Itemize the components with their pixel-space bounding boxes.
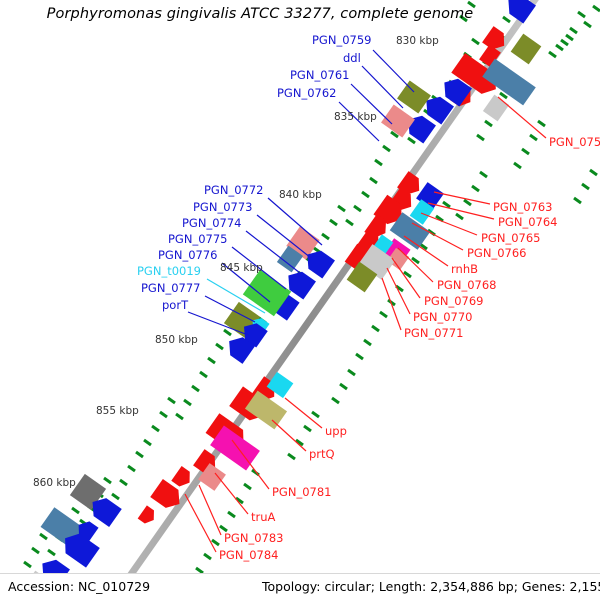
scale-dash	[152, 426, 159, 431]
scale-dash	[477, 135, 484, 140]
scale-dash	[593, 6, 600, 11]
gene-label-pgn_0763[interactable]: PGN_0763	[493, 202, 552, 213]
scale-dash	[582, 184, 589, 189]
scale-dash	[380, 312, 387, 317]
scale-dash	[456, 214, 463, 219]
leader-line-blue	[362, 66, 403, 108]
gene-label-ddl[interactable]: ddl	[343, 53, 361, 64]
scale-dash	[383, 146, 390, 151]
scale-dash	[176, 414, 183, 419]
scale-tick-label: 855 kbp	[96, 406, 139, 417]
scale-dash	[340, 384, 347, 389]
scale-dash	[244, 484, 251, 489]
gene-olive-b[interactable]	[397, 81, 431, 114]
scale-dash	[346, 220, 353, 225]
scale-dash	[372, 326, 379, 331]
scale-dash	[322, 234, 329, 239]
gene-label-pgn_0774[interactable]: PGN_0774	[182, 218, 241, 229]
scale-tick-label: 850 kbp	[155, 335, 198, 346]
scale-tick-label: 835 kbp	[334, 112, 377, 123]
scale-dash	[24, 562, 31, 567]
genome-summary-text: Topology: circular; Length: 2,354,886 bp…	[262, 579, 600, 594]
scale-dash	[184, 400, 191, 405]
leader-line-red	[272, 420, 306, 451]
scale-dash	[168, 398, 175, 403]
scale-dash	[332, 398, 339, 403]
scale-dash	[112, 494, 119, 499]
scale-dash	[556, 45, 563, 50]
scale-dash	[530, 135, 537, 140]
scale-dash	[356, 354, 363, 359]
gene-steel-long[interactable]	[482, 59, 536, 106]
gene-label-pgn_0768[interactable]: PGN_0768	[437, 280, 496, 291]
scale-dash	[304, 426, 311, 431]
scale-dash	[228, 512, 235, 517]
gene-label-pgn_t0019[interactable]: PGN_t0019	[137, 266, 201, 277]
scale-dash	[566, 35, 573, 40]
scale-tick-label: 845 kbp	[220, 263, 263, 274]
scale-dash	[362, 192, 369, 197]
scale-dash	[578, 12, 585, 17]
scale-dash	[464, 200, 471, 205]
gene-label-pgn_0771[interactable]: PGN_0771	[404, 328, 463, 339]
scale-dash	[375, 160, 382, 165]
scale-dash	[570, 28, 577, 33]
gene-label-pgn_0762[interactable]: PGN_0762	[277, 88, 336, 99]
scale-dash	[312, 412, 319, 417]
scale-dash	[472, 186, 479, 191]
gene-label-pgn_0784[interactable]: PGN_0784	[219, 550, 278, 561]
gene-label-pgn_0766[interactable]: PGN_0766	[467, 248, 526, 259]
scale-dash	[408, 138, 415, 143]
scale-dash	[40, 534, 47, 539]
scale-dash	[192, 386, 199, 391]
scale-dash	[120, 480, 127, 485]
gene-label-rnhb[interactable]: rnhB	[451, 264, 478, 275]
gene-label-port[interactable]: porT	[162, 300, 188, 311]
gene-label-pgn_0772[interactable]: PGN_0772	[204, 185, 263, 196]
gene-red-p[interactable]	[138, 505, 159, 526]
scale-dash	[348, 370, 355, 375]
gene-label-pgn_0773[interactable]: PGN_0773	[193, 202, 252, 213]
scale-dash	[208, 358, 215, 363]
scale-dash	[584, 22, 591, 27]
gene-label-pgn_0775[interactable]: PGN_0775	[168, 234, 227, 245]
genome-map-viewer: Porphyromonas gingivalis ATCC 33277, com…	[0, 0, 600, 600]
gene-label-pgn_0761[interactable]: PGN_0761	[290, 70, 349, 81]
scale-dash	[443, 202, 450, 207]
gene-label-pgn_0759[interactable]: PGN_0759	[312, 35, 371, 46]
gene-label-pgn_0757[interactable]: PGN_0757	[549, 137, 600, 148]
gene-label-prtq[interactable]: prtQ	[309, 449, 335, 460]
scale-dash	[128, 466, 135, 471]
gene-label-pgn_0769[interactable]: PGN_0769	[424, 296, 483, 307]
scale-dash	[574, 198, 581, 203]
scale-dash	[160, 412, 167, 417]
scale-dash	[338, 206, 345, 211]
scale-dash	[330, 220, 337, 225]
scale-dash	[212, 540, 219, 545]
scale-dash	[72, 508, 79, 513]
scale-tick-label: 830 kbp	[396, 36, 439, 47]
scale-dash	[204, 554, 211, 559]
gene-label-pgn_0764[interactable]: PGN_0764	[498, 217, 557, 228]
leader-line-red	[434, 192, 490, 204]
page-title: Porphyromonas gingivalis ATCC 33277, com…	[0, 6, 520, 22]
gene-label-pgn_0783[interactable]: PGN_0783	[224, 533, 283, 544]
gene-label-pgn_0765[interactable]: PGN_0765	[481, 233, 540, 244]
scale-dash	[472, 39, 479, 44]
scale-dash	[500, 93, 507, 98]
status-bar: Accession: NC_010729 Topology: circular;…	[0, 573, 600, 600]
gene-label-pgn_0776[interactable]: PGN_0776	[158, 250, 217, 261]
scale-dash	[561, 40, 568, 45]
scale-dash	[136, 452, 143, 457]
leader-line-red	[392, 258, 420, 298]
accession-text: Accession: NC_010729	[8, 579, 150, 594]
scale-tick-label: 840 kbp	[279, 190, 322, 201]
scale-dash	[224, 330, 231, 335]
scale-dash	[200, 372, 207, 377]
leader-line-red	[215, 473, 248, 514]
gene-label-pgn_0777[interactable]: PGN_0777	[141, 283, 200, 294]
gene-label-pgn_0781[interactable]: PGN_0781	[272, 487, 331, 498]
scale-dash	[485, 121, 492, 126]
scale-dash	[522, 149, 529, 154]
scale-dash	[354, 206, 361, 211]
leader-line-blue	[373, 50, 414, 92]
gene-lgray-a[interactable]	[483, 95, 509, 122]
leader-line-red	[285, 398, 322, 428]
scale-dash	[590, 170, 597, 175]
scale-dash	[514, 163, 521, 168]
gene-label-pgn_0770[interactable]: PGN_0770	[413, 312, 472, 323]
leader-line-red	[404, 236, 448, 266]
scale-dash	[144, 440, 151, 445]
gene-label-upp[interactable]: upp	[325, 426, 347, 437]
scale-dash	[549, 52, 556, 57]
scale-dash	[370, 178, 377, 183]
scale-dash	[32, 548, 39, 553]
scale-dash	[288, 454, 295, 459]
leader-line-red	[185, 494, 216, 552]
scale-dash	[104, 478, 111, 483]
scale-dash	[364, 340, 371, 345]
scale-dash	[538, 121, 545, 126]
scale-dash	[480, 172, 487, 177]
gene-label-trua[interactable]: truA	[251, 512, 275, 523]
scale-tick-label: 860 kbp	[33, 478, 76, 489]
gene-olive-a[interactable]	[511, 34, 542, 65]
scale-dash	[216, 344, 223, 349]
scale-dash	[48, 550, 55, 555]
